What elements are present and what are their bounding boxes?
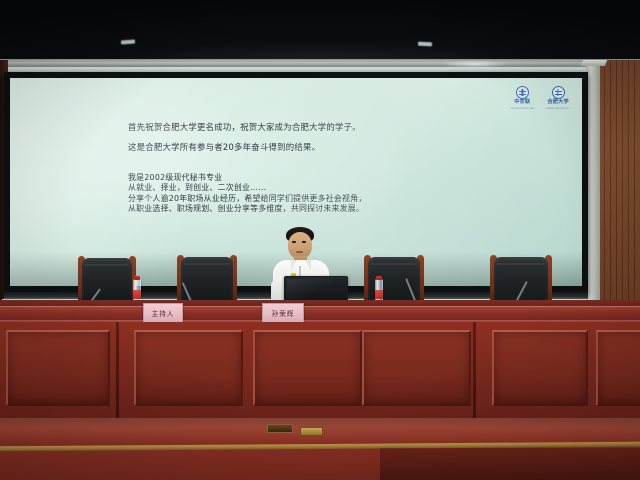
bottle-label <box>133 290 141 299</box>
speaker-eye <box>302 241 306 243</box>
slide-line: 从职业选择、职场规划、创业分享等多维度，共同探讨未来发展。 <box>128 204 558 214</box>
bottle-cap <box>134 276 140 280</box>
speaker-head <box>288 232 312 259</box>
slide-logos: 中农联 ZHONG NONG LIAN 合肥大学 HEFEI UNIVERSIT… <box>510 86 570 110</box>
podium-seam <box>116 322 119 422</box>
slide-line: 我是2002级现代秘书专业 <box>128 173 558 183</box>
logo-hefei-university: 合肥大学 HEFEI UNIVERSITY <box>546 86 570 110</box>
podium-panel <box>362 330 471 406</box>
emblem-icon <box>516 86 529 99</box>
slide-line: 从就业、择业，到创业、二次创业…… <box>128 183 558 193</box>
slide-line: 分享个人逾20年职场从业经历，希望给同学们提供更多社会视角， <box>128 194 558 204</box>
slide-line: 这是合肥大学所有参与者20多年奋斗得到的结果。 <box>128 142 558 153</box>
podium-panel <box>6 330 110 406</box>
chair-highlight <box>371 263 417 265</box>
logo-subtitle: ZHONG NONG LIAN <box>510 107 534 110</box>
speaker-mouth <box>296 251 303 253</box>
nameplate-speaker: 孙荣辉 <box>262 303 304 324</box>
podium-panel <box>492 330 588 406</box>
floor-vent <box>267 424 293 433</box>
logo-name: 中农联 <box>514 100 530 106</box>
podium-seam <box>473 322 476 422</box>
logo-subtitle: HEFEI UNIVERSITY <box>546 107 570 110</box>
slide-line: 首先祝贺合肥大学更名成功，祝贺大家成为合肥大学的学子。 <box>128 122 558 133</box>
pillar-cap <box>581 60 607 66</box>
podium-panel <box>134 330 243 406</box>
chair-back <box>82 258 132 304</box>
bottle-label <box>375 290 383 299</box>
soffit-highlight <box>440 60 510 68</box>
speaker-collar <box>291 260 297 271</box>
bottle-cap <box>376 276 382 280</box>
ceiling-light <box>418 42 432 47</box>
podium-panel <box>596 330 640 406</box>
slide-paragraph: 我是2002级现代秘书专业 从就业、择业，到创业、二次创业…… 分享个人逾20年… <box>128 173 558 215</box>
nameplate-host: 主持人 <box>143 303 183 324</box>
ceiling-vignette <box>0 0 640 60</box>
podium-panel <box>253 330 362 406</box>
floor-access-plate <box>300 427 323 436</box>
podium-front <box>0 322 640 422</box>
floor-shadow-right <box>380 448 640 480</box>
chair-back <box>494 257 548 305</box>
chair-highlight <box>85 264 129 266</box>
slide-text-body: 首先祝贺合肥大学更名成功，祝贺大家成为合肥大学的学子。 这是合肥大学所有参与者2… <box>128 122 558 215</box>
logo-name: 合肥大学 <box>547 100 569 106</box>
conference-hall-photo: 中农联 ZHONG NONG LIAN 合肥大学 HEFEI UNIVERSIT… <box>0 0 640 480</box>
nameplate-label: 主持人 <box>152 309 175 319</box>
chair-1 <box>82 258 132 304</box>
chair-highlight <box>497 263 545 265</box>
speaker-eye <box>292 241 296 243</box>
chair-4 <box>494 257 548 305</box>
chair-highlight <box>184 263 230 265</box>
ceiling <box>0 0 640 60</box>
nameplate-label: 孙荣辉 <box>272 309 295 319</box>
emblem-icon <box>552 86 565 99</box>
speaker-collar <box>305 260 311 271</box>
logo-zhongnonglian: 中农联 ZHONG NONG LIAN <box>510 86 534 110</box>
